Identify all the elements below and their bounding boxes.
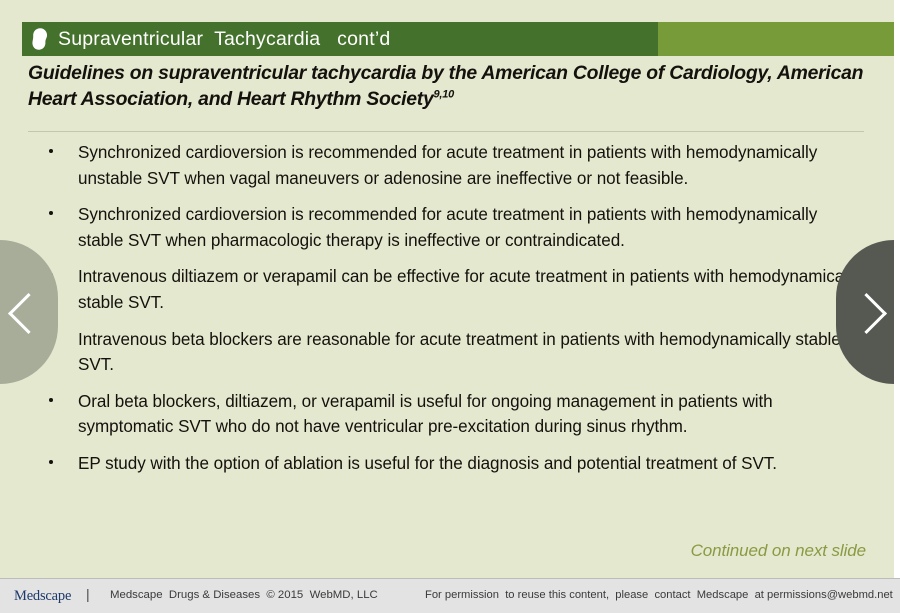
footer-bar: Medscape | Medscape Drugs & Diseases © 2… bbox=[0, 578, 900, 613]
slide-subtitle: Guidelines on supraventricular tachycard… bbox=[28, 60, 864, 112]
slide-subtitle-text: Guidelines on supraventricular tachycard… bbox=[28, 62, 863, 110]
list-item-text: Intravenous diltiazem or verapamil can b… bbox=[78, 267, 860, 312]
list-item: Intravenous beta blockers are reasonable… bbox=[28, 327, 866, 378]
list-item: Intravenous diltiazem or verapamil can b… bbox=[28, 264, 866, 315]
bullet-marker-icon bbox=[49, 211, 53, 215]
footer-copyright: Medscape Drugs & Diseases © 2015 WebMD, … bbox=[110, 589, 378, 601]
chevron-left-icon bbox=[8, 293, 49, 334]
medscape-logo[interactable]: Medscape bbox=[14, 588, 71, 605]
slide-subtitle-reference: 9,10 bbox=[434, 89, 454, 101]
slide-title: Supraventricular Tachycardia cont’d bbox=[58, 22, 390, 56]
list-item-text: Intravenous beta blockers are reasonable… bbox=[78, 330, 841, 375]
footer-permission-note: For permission to reuse this content, pl… bbox=[425, 589, 893, 601]
bullet-list: Synchronized cardioversion is recommende… bbox=[28, 140, 866, 488]
list-item-text: EP study with the option of ablation is … bbox=[78, 454, 777, 473]
continued-note: Continued on next slide bbox=[691, 541, 866, 561]
list-item: Synchronized cardioversion is recommende… bbox=[28, 202, 866, 253]
slide-viewer: Supraventricular Tachycardia cont’d Guid… bbox=[0, 0, 900, 613]
list-item-text: Synchronized cardioversion is recommende… bbox=[78, 205, 817, 250]
bullet-marker-icon bbox=[49, 460, 53, 464]
list-item-text: Oral beta blockers, diltiazem, or verapa… bbox=[78, 392, 773, 437]
heart-icon bbox=[30, 27, 52, 51]
list-item: EP study with the option of ablation is … bbox=[28, 451, 866, 477]
chevron-right-icon bbox=[846, 293, 887, 334]
bullet-marker-icon bbox=[49, 149, 53, 153]
slide-canvas: Supraventricular Tachycardia cont’d Guid… bbox=[0, 0, 894, 578]
list-item-text: Synchronized cardioversion is recommende… bbox=[78, 143, 817, 188]
list-item: Oral beta blockers, diltiazem, or verapa… bbox=[28, 389, 866, 440]
subtitle-divider bbox=[28, 131, 864, 132]
footer-separator: | bbox=[86, 586, 90, 602]
bullet-marker-icon bbox=[49, 398, 53, 402]
list-item: Synchronized cardioversion is recommende… bbox=[28, 140, 866, 191]
slide-header-bar: Supraventricular Tachycardia cont’d bbox=[22, 22, 894, 56]
